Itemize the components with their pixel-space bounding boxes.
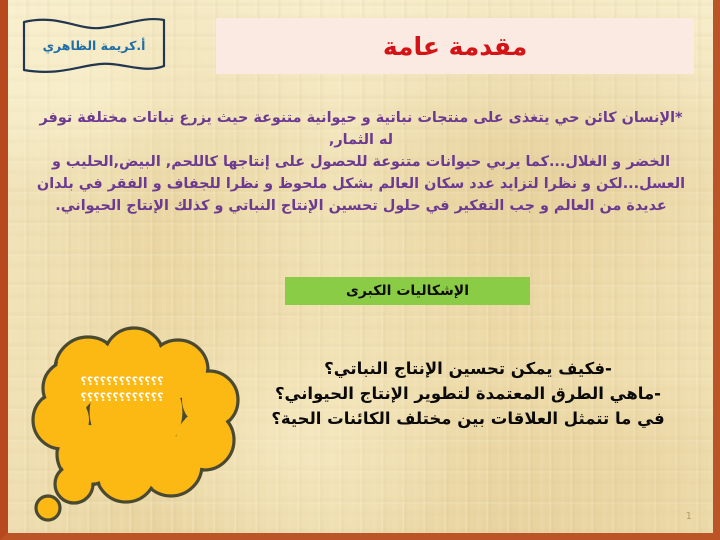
main-problems-heading-box: الإشكاليات الكبرى — [285, 277, 530, 305]
question-item-3: في ما تتمثل العلاقات بين مختلف الكائنات … — [238, 406, 698, 431]
question-item-2: -ماهي الطرق المعتمدة لتطوير الإنتاج الحي… — [238, 381, 698, 406]
question-marks-row-2: ؟؟؟؟؟؟؟؟؟؟؟؟؟ — [62, 390, 182, 406]
question-item-1: -فكيف يمكن تحسين الإنتاج النباتي؟ — [238, 356, 698, 381]
slide-border-top-left-stub — [0, 0, 8, 10]
questions-list: -فكيف يمكن تحسين الإنتاج النباتي؟ -ماهي … — [238, 356, 698, 431]
question-marks-row-1: ؟؟؟؟؟؟؟؟؟؟؟؟؟ — [62, 374, 182, 390]
intro-paragraph-line-1: *الإنسان كائن حي يتغذى على منتجات نباتية… — [30, 108, 692, 152]
thought-bubble: ؟؟؟؟؟؟؟؟؟؟؟؟؟ ؟؟؟؟؟؟؟؟؟؟؟؟؟ — [26, 332, 251, 527]
teacher-name-label: أ.كريمة الظاهري — [18, 38, 170, 53]
intro-paragraph: *الإنسان كائن حي يتغذى على منتجات نباتية… — [30, 108, 692, 217]
main-problems-heading-label: الإشكاليات الكبرى — [346, 283, 469, 299]
intro-paragraph-line-2: الخضر و الغلال...كما يربي حيوانات متنوعة… — [30, 152, 692, 218]
presentation-slide: أ.كريمة الظاهري مقدمة عامة *الإنسان كائن… — [0, 0, 720, 540]
slide-number: 1 — [686, 511, 692, 522]
page-title: مقدمة عامة — [383, 34, 527, 59]
teacher-name-ribbon: أ.كريمة الظاهري — [18, 12, 170, 78]
slide-title-box: مقدمة عامة — [216, 18, 694, 74]
thought-bubble-question-marks: ؟؟؟؟؟؟؟؟؟؟؟؟؟ ؟؟؟؟؟؟؟؟؟؟؟؟؟ — [62, 374, 182, 406]
thought-cloud-icon — [26, 332, 251, 527]
